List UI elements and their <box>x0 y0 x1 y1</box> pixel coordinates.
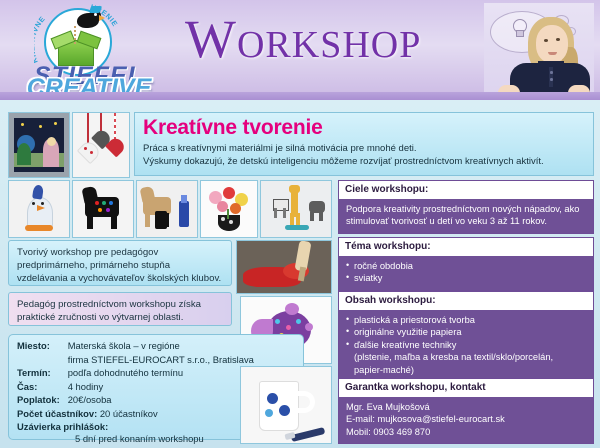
logo-arc-left: KREATÍVNE <box>34 14 47 64</box>
main-title: Kreatívne tvorenie <box>143 116 585 140</box>
info-label: Poplatok: <box>17 394 68 408</box>
section-obsah-body: plastická a priestorová tvorba origináln… <box>339 310 593 381</box>
header: KREATÍVNE UČENIE STIEFEL CREATIVE Worksh… <box>0 0 600 100</box>
bird-icon <box>75 10 101 30</box>
info-label: Miesto: <box>17 340 68 354</box>
outcome-text: Pedagóg prostredníctvom workshopu získa … <box>9 293 231 329</box>
participants-value: 20 účastníkov <box>100 408 158 419</box>
main-subtitle-line1: Práca s kreatívnymi materiálmi je silná … <box>143 143 585 156</box>
girl-thinking-photo <box>484 3 594 95</box>
info-label: Termín: <box>17 367 68 381</box>
flower-painting-photo <box>200 180 258 238</box>
list-item: ročné obdobia <box>346 260 586 272</box>
audience-block: Tvorivý workshop pre pedagógov predprimá… <box>8 240 232 286</box>
info-label: Čas: <box>17 381 68 395</box>
section-ciele-paragraph: Podpora kreativity prostredníctvom novýc… <box>346 203 586 228</box>
header-divider <box>0 92 600 100</box>
participants-label: Počet účastníkov: <box>17 408 97 419</box>
outcome-block: Pedagóg prostredníctvom workshopu získa … <box>8 292 232 326</box>
felt-picture-photo <box>8 112 70 178</box>
table-row: Poplatok: 20€/osoba <box>17 394 254 408</box>
section-tema: Téma workshopu: ročné obdobia sviatky <box>338 237 594 291</box>
bead-animals-photo <box>260 180 332 238</box>
stiefel-creative-logo: KREATÍVNE UČENIE STIEFEL CREATIVE <box>12 4 162 100</box>
contact-mobile[interactable]: Mobil: 0903 469 870 <box>346 426 586 438</box>
section-obsah: Obsah workshopu: plastická a priestorová… <box>338 291 594 382</box>
section-ciele-body: Podpora kreativity prostredníctvom novýc… <box>339 199 593 233</box>
red-felting-photo <box>236 240 332 294</box>
list-item: plastická a priestorová tvorba <box>346 314 586 326</box>
felt-snowman-photo <box>8 180 70 238</box>
info-value: 20€/osoba <box>68 394 254 408</box>
list-item: sviatky <box>346 272 586 284</box>
contact-title: Garantka workshopu, kontakt <box>339 379 593 397</box>
info-value: 4 hodiny <box>68 381 254 395</box>
table-row: Miesto: Materská škola – v regióne <box>17 340 254 354</box>
section-obsah-subitem: papier-maché) <box>346 364 586 376</box>
section-tema-title: Téma workshopu: <box>339 238 593 256</box>
audience-text: Tvorivý workshop pre pedagógov predprimá… <box>9 241 231 290</box>
section-obsah-title: Obsah workshopu: <box>339 292 593 310</box>
contact-body: Mgr. Eva Mujkošová E-mail: mujkosova@sti… <box>339 397 593 443</box>
table-row: Čas: 4 hodiny <box>17 381 254 395</box>
table-row: Termín: podľa dohodnutého termínu <box>17 367 254 381</box>
info-value: firma STIEFEL-EUROCART s.r.o., Bratislav… <box>68 354 254 368</box>
info-value: Materská škola – v regióne <box>68 340 254 354</box>
contact-email[interactable]: E-mail: mujkosova@stiefel-eurocart.sk <box>346 413 586 425</box>
section-ciele-title: Ciele workshopu: <box>339 181 593 199</box>
main-subtitle-line2: Výskumy dokazujú, že detskú inteligenciu… <box>143 156 585 169</box>
section-obsah-subitem: (plstenie, maľba a kresba na textil/sklo… <box>346 351 586 363</box>
page-title: Workshop <box>185 8 421 70</box>
info-label <box>17 354 68 368</box>
list-item: originálne využitie papiera <box>346 326 586 338</box>
hanging-hearts-photo <box>72 112 130 178</box>
list-item: ďalšie kreatívne techniky <box>346 339 586 351</box>
decorated-mug-photo <box>240 366 332 444</box>
info-value: podľa dohodnutého termínu <box>68 367 254 381</box>
contact-name: Mgr. Eva Mujkošová <box>346 401 586 413</box>
lightbulb-icon <box>512 19 526 35</box>
section-contact: Garantka workshopu, kontakt Mgr. Eva Muj… <box>338 378 594 444</box>
section-tema-body: ročné obdobia sviatky <box>339 256 593 290</box>
black-horse-photo <box>72 180 134 238</box>
workshop-flyer: KREATÍVNE UČENIE STIEFEL CREATIVE Worksh… <box>0 0 600 448</box>
table-row: firma STIEFEL-EUROCART s.r.o., Bratislav… <box>17 354 254 368</box>
section-ciele: Ciele workshopu: Podpora kreativity pros… <box>338 180 594 234</box>
main-title-panel: Kreatívne tvorenie Práca s kreatívnymi m… <box>134 112 594 176</box>
svg-text:KREATÍVNE: KREATÍVNE <box>34 14 47 64</box>
wooden-horse-glue-photo <box>136 180 198 238</box>
